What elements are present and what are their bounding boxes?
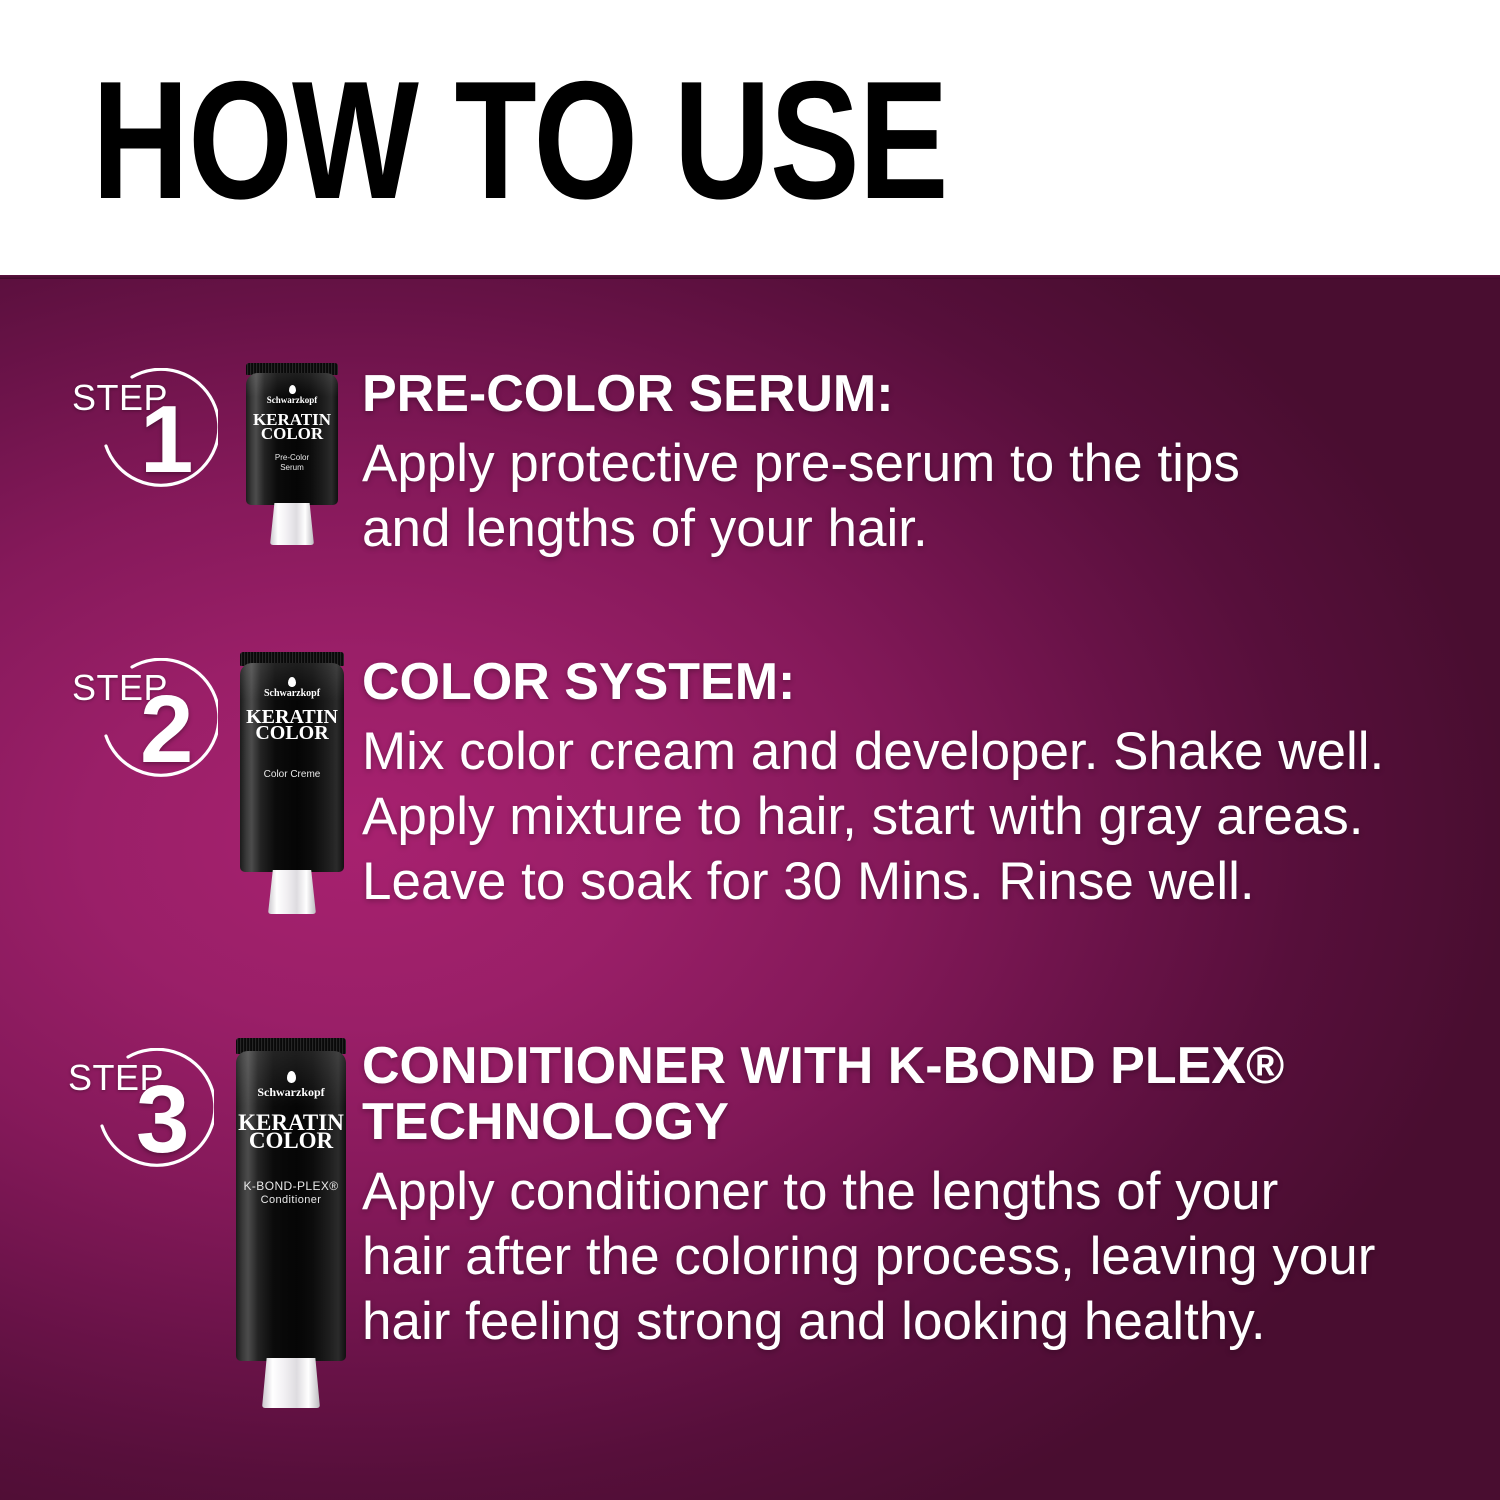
step-text-3: CONDITIONER WITH K-BOND PLEX® TECHNOLOGY… — [362, 1038, 1472, 1354]
step-body-1: Apply protective pre-serum to the tips a… — [362, 431, 1442, 561]
step-badge-1: STEP 1 — [62, 362, 247, 502]
tube-variant-line1-2: Color Creme — [264, 769, 321, 780]
step-number-2: 2 — [140, 682, 193, 778]
tube-body-3: Schwarzkopf KERATIN COLOR K-BOND-PLEX® C… — [236, 1051, 346, 1361]
step-heading-3: CONDITIONER WITH K-BOND PLEX® TECHNOLOGY — [362, 1038, 1472, 1150]
header-band: HOW TO USE — [0, 0, 1500, 275]
tube-cap-2 — [268, 870, 316, 914]
brand-line2-2: COLOR — [240, 723, 344, 743]
tube-variant-1: Pre-Color Serum — [246, 453, 338, 473]
schwarzkopf-wordmark-1: Schwarzkopf — [246, 395, 338, 405]
tube-cap-1 — [270, 503, 314, 545]
product-tube-3: Schwarzkopf KERATIN COLOR K-BOND-PLEX® C… — [236, 1038, 346, 1410]
schwarzkopf-logo-1: Schwarzkopf — [246, 385, 338, 405]
product-tube-1: Schwarzkopf KERATIN COLOR Pre-Color Seru… — [246, 363, 338, 543]
schwarzkopf-head-icon-2 — [288, 677, 296, 687]
how-to-use-infographic: HOW TO USE STEP 1 Schwarzkopf — [0, 0, 1500, 1500]
keratin-color-logo-2: KERATIN COLOR — [240, 707, 344, 743]
schwarzkopf-wordmark-2: Schwarzkopf — [240, 688, 344, 699]
tube-variant-line2-3: Conditioner — [236, 1194, 346, 1208]
tube-body-2: Schwarzkopf KERATIN COLOR Color Creme — [240, 663, 344, 872]
step-heading-1: PRE-COLOR SERUM: — [362, 366, 1442, 422]
tube-variant-3: K-BOND-PLEX® Conditioner — [236, 1179, 346, 1208]
tube-variant-2: Color Creme — [240, 769, 344, 782]
tube-variant-line1-1: Pre-Color — [275, 453, 309, 462]
schwarzkopf-logo-3: Schwarzkopf — [236, 1071, 346, 1100]
keratin-color-logo-3: KERATIN COLOR — [236, 1111, 346, 1152]
tube-variant-line1-3: K-BOND-PLEX® — [244, 1179, 339, 1193]
schwarzkopf-wordmark-3: Schwarzkopf — [236, 1085, 346, 1100]
step-number-3: 3 — [136, 1072, 189, 1168]
step-body-3: Apply conditioner to the lengths of your… — [362, 1159, 1472, 1354]
step-text-1: PRE-COLOR SERUM: Apply protective pre-se… — [362, 366, 1442, 561]
product-tube-2: Schwarzkopf KERATIN COLOR Color Creme — [240, 652, 344, 914]
step-heading-2: COLOR SYSTEM: — [362, 654, 1462, 710]
tube-cap-3 — [262, 1358, 320, 1408]
brand-line2-3: COLOR — [236, 1129, 346, 1152]
schwarzkopf-head-icon-1 — [289, 385, 296, 394]
step-badge-2: STEP 2 — [62, 652, 247, 792]
keratin-color-logo-1: KERATIN COLOR — [246, 411, 338, 442]
schwarzkopf-logo-2: Schwarzkopf — [240, 677, 344, 699]
tube-variant-line2-1: Serum — [246, 463, 338, 473]
tube-body-1: Schwarzkopf KERATIN COLOR Pre-Color Seru… — [246, 373, 338, 505]
step-badge-3: STEP 3 — [58, 1042, 243, 1182]
page-title: HOW TO USE — [92, 56, 948, 224]
step-text-2: COLOR SYSTEM: Mix color cream and develo… — [362, 654, 1462, 914]
panel-top-divider — [0, 275, 1500, 279]
schwarzkopf-head-icon-3 — [287, 1071, 296, 1083]
step-body-2: Mix color cream and developer. Shake wel… — [362, 719, 1462, 914]
step-number-1: 1 — [140, 392, 193, 488]
